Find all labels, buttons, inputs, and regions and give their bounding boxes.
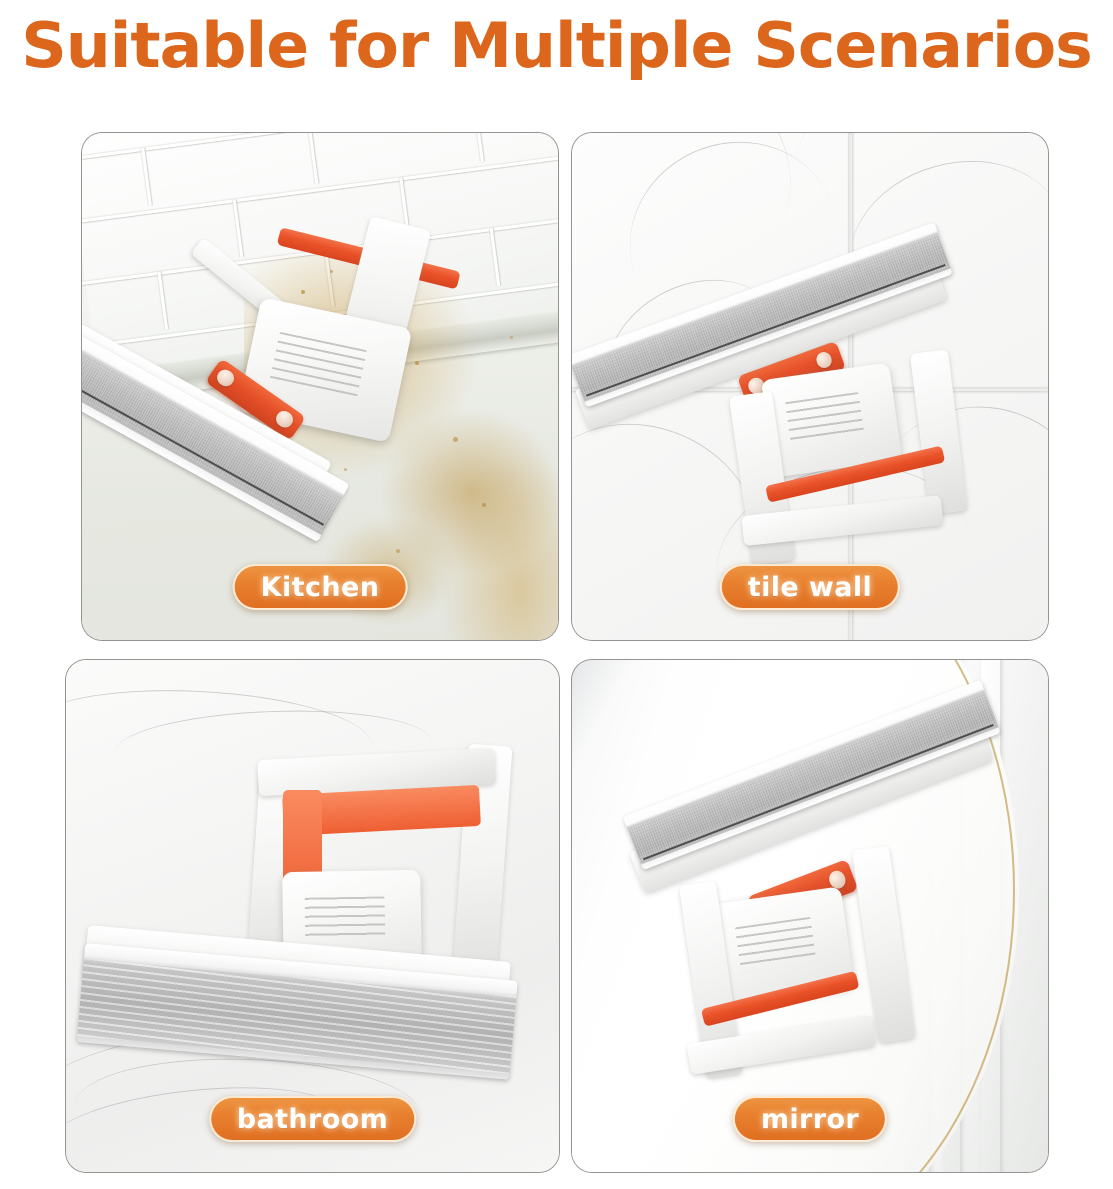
squeegee-product	[582, 701, 1048, 1141]
blade-texture	[77, 959, 516, 1074]
infographic-page: Suitable for Multiple Scenarios	[0, 0, 1113, 1189]
badge-mirror: mirror	[733, 1096, 887, 1142]
scenario-panel-tile-wall[interactable]: tile wall	[572, 133, 1048, 640]
badge-bathroom: bathroom	[209, 1096, 416, 1142]
scenario-panel-grid: Kitchen	[66, 133, 1048, 1172]
grip-ridges	[305, 896, 386, 941]
handle-arm-right	[910, 349, 968, 514]
badge-tile-wall: tile wall	[720, 564, 900, 610]
scenario-panel-mirror[interactable]: mirror	[572, 660, 1048, 1172]
scenario-panel-bathroom[interactable]: bathroom	[66, 660, 559, 1172]
grip-ridges	[785, 392, 865, 445]
blade-lip	[641, 728, 1000, 871]
grip-ridges	[735, 917, 816, 972]
scenario-panel-kitchen[interactable]: Kitchen	[82, 133, 558, 640]
grip-ridges	[269, 332, 367, 400]
badge-kitchen: Kitchen	[233, 564, 408, 610]
handle-arm-right	[852, 845, 916, 1042]
squeegee-product	[82, 204, 558, 589]
page-title: Suitable for Multiple Scenarios	[0, 8, 1113, 84]
squeegee-product	[572, 184, 1048, 610]
squeegee-product	[66, 691, 559, 1142]
